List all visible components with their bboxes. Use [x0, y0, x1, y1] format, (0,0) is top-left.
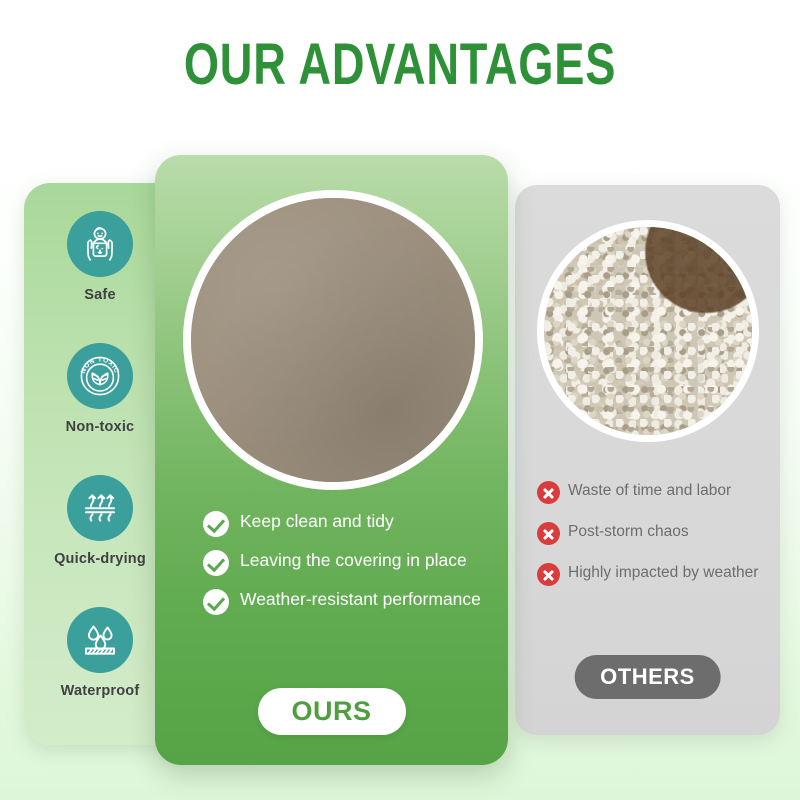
list-item: Keep clean and tidy: [203, 510, 498, 537]
quick-drying-airflow-icon: [67, 475, 133, 541]
feature-item-waterproof: Waterproof: [24, 607, 176, 699]
ours-card: Keep clean and tidy Leaving the covering…: [155, 155, 508, 765]
list-item: Post-storm chaos: [537, 521, 787, 545]
list-item: Leaving the covering in place: [203, 549, 498, 576]
check-icon: [203, 511, 229, 537]
feature-item-quick-drying: Quick-drying: [24, 475, 176, 567]
cross-icon: [537, 563, 560, 586]
feature-item-safe: Safe: [24, 211, 176, 303]
ours-product-photo: [183, 190, 483, 490]
feature-label: Quick-drying: [24, 551, 176, 567]
benefit-text: Weather-resistant performance: [240, 588, 481, 610]
benefit-text: Keep clean and tidy: [240, 510, 394, 532]
list-item: Highly impacted by weather: [537, 562, 787, 586]
cross-icon: [537, 522, 560, 545]
drawback-text: Highly impacted by weather: [568, 562, 758, 584]
ours-badge: OURS: [257, 688, 405, 735]
ours-benefit-list: Keep clean and tidy Leaving the covering…: [203, 510, 498, 627]
feature-label: Non-toxic: [24, 419, 176, 435]
others-drawback-list: Waste of time and labor Post-storm chaos…: [537, 480, 787, 603]
others-card: Waste of time and labor Post-storm chaos…: [515, 185, 780, 735]
others-gravel-texture: [544, 227, 752, 435]
feature-label: Safe: [24, 287, 176, 303]
check-icon: [203, 589, 229, 615]
comparison-stage: Safe NON TOXIC: [0, 0, 800, 800]
svg-text:NON TOXIC: NON TOXIC: [80, 356, 120, 374]
list-item: Waste of time and labor: [537, 480, 787, 504]
drawback-text: Post-storm chaos: [568, 521, 689, 543]
cross-icon: [537, 481, 560, 504]
non-toxic-leaf-icon: NON TOXIC: [67, 343, 133, 409]
ours-gravel-texture: [191, 198, 475, 482]
feature-item-non-toxic: NON TOXIC Non-toxic: [24, 343, 176, 435]
waterproof-droplets-icon: [67, 607, 133, 673]
feature-label: Waterproof: [24, 683, 176, 699]
benefit-text: Leaving the covering in place: [240, 549, 467, 571]
drawback-text: Waste of time and labor: [568, 480, 731, 502]
baby-and-pet-safe-icon: [67, 211, 133, 277]
check-icon: [203, 550, 229, 576]
others-badge: OTHERS: [574, 655, 721, 699]
others-product-photo: [537, 220, 759, 442]
list-item: Weather-resistant performance: [203, 588, 498, 615]
